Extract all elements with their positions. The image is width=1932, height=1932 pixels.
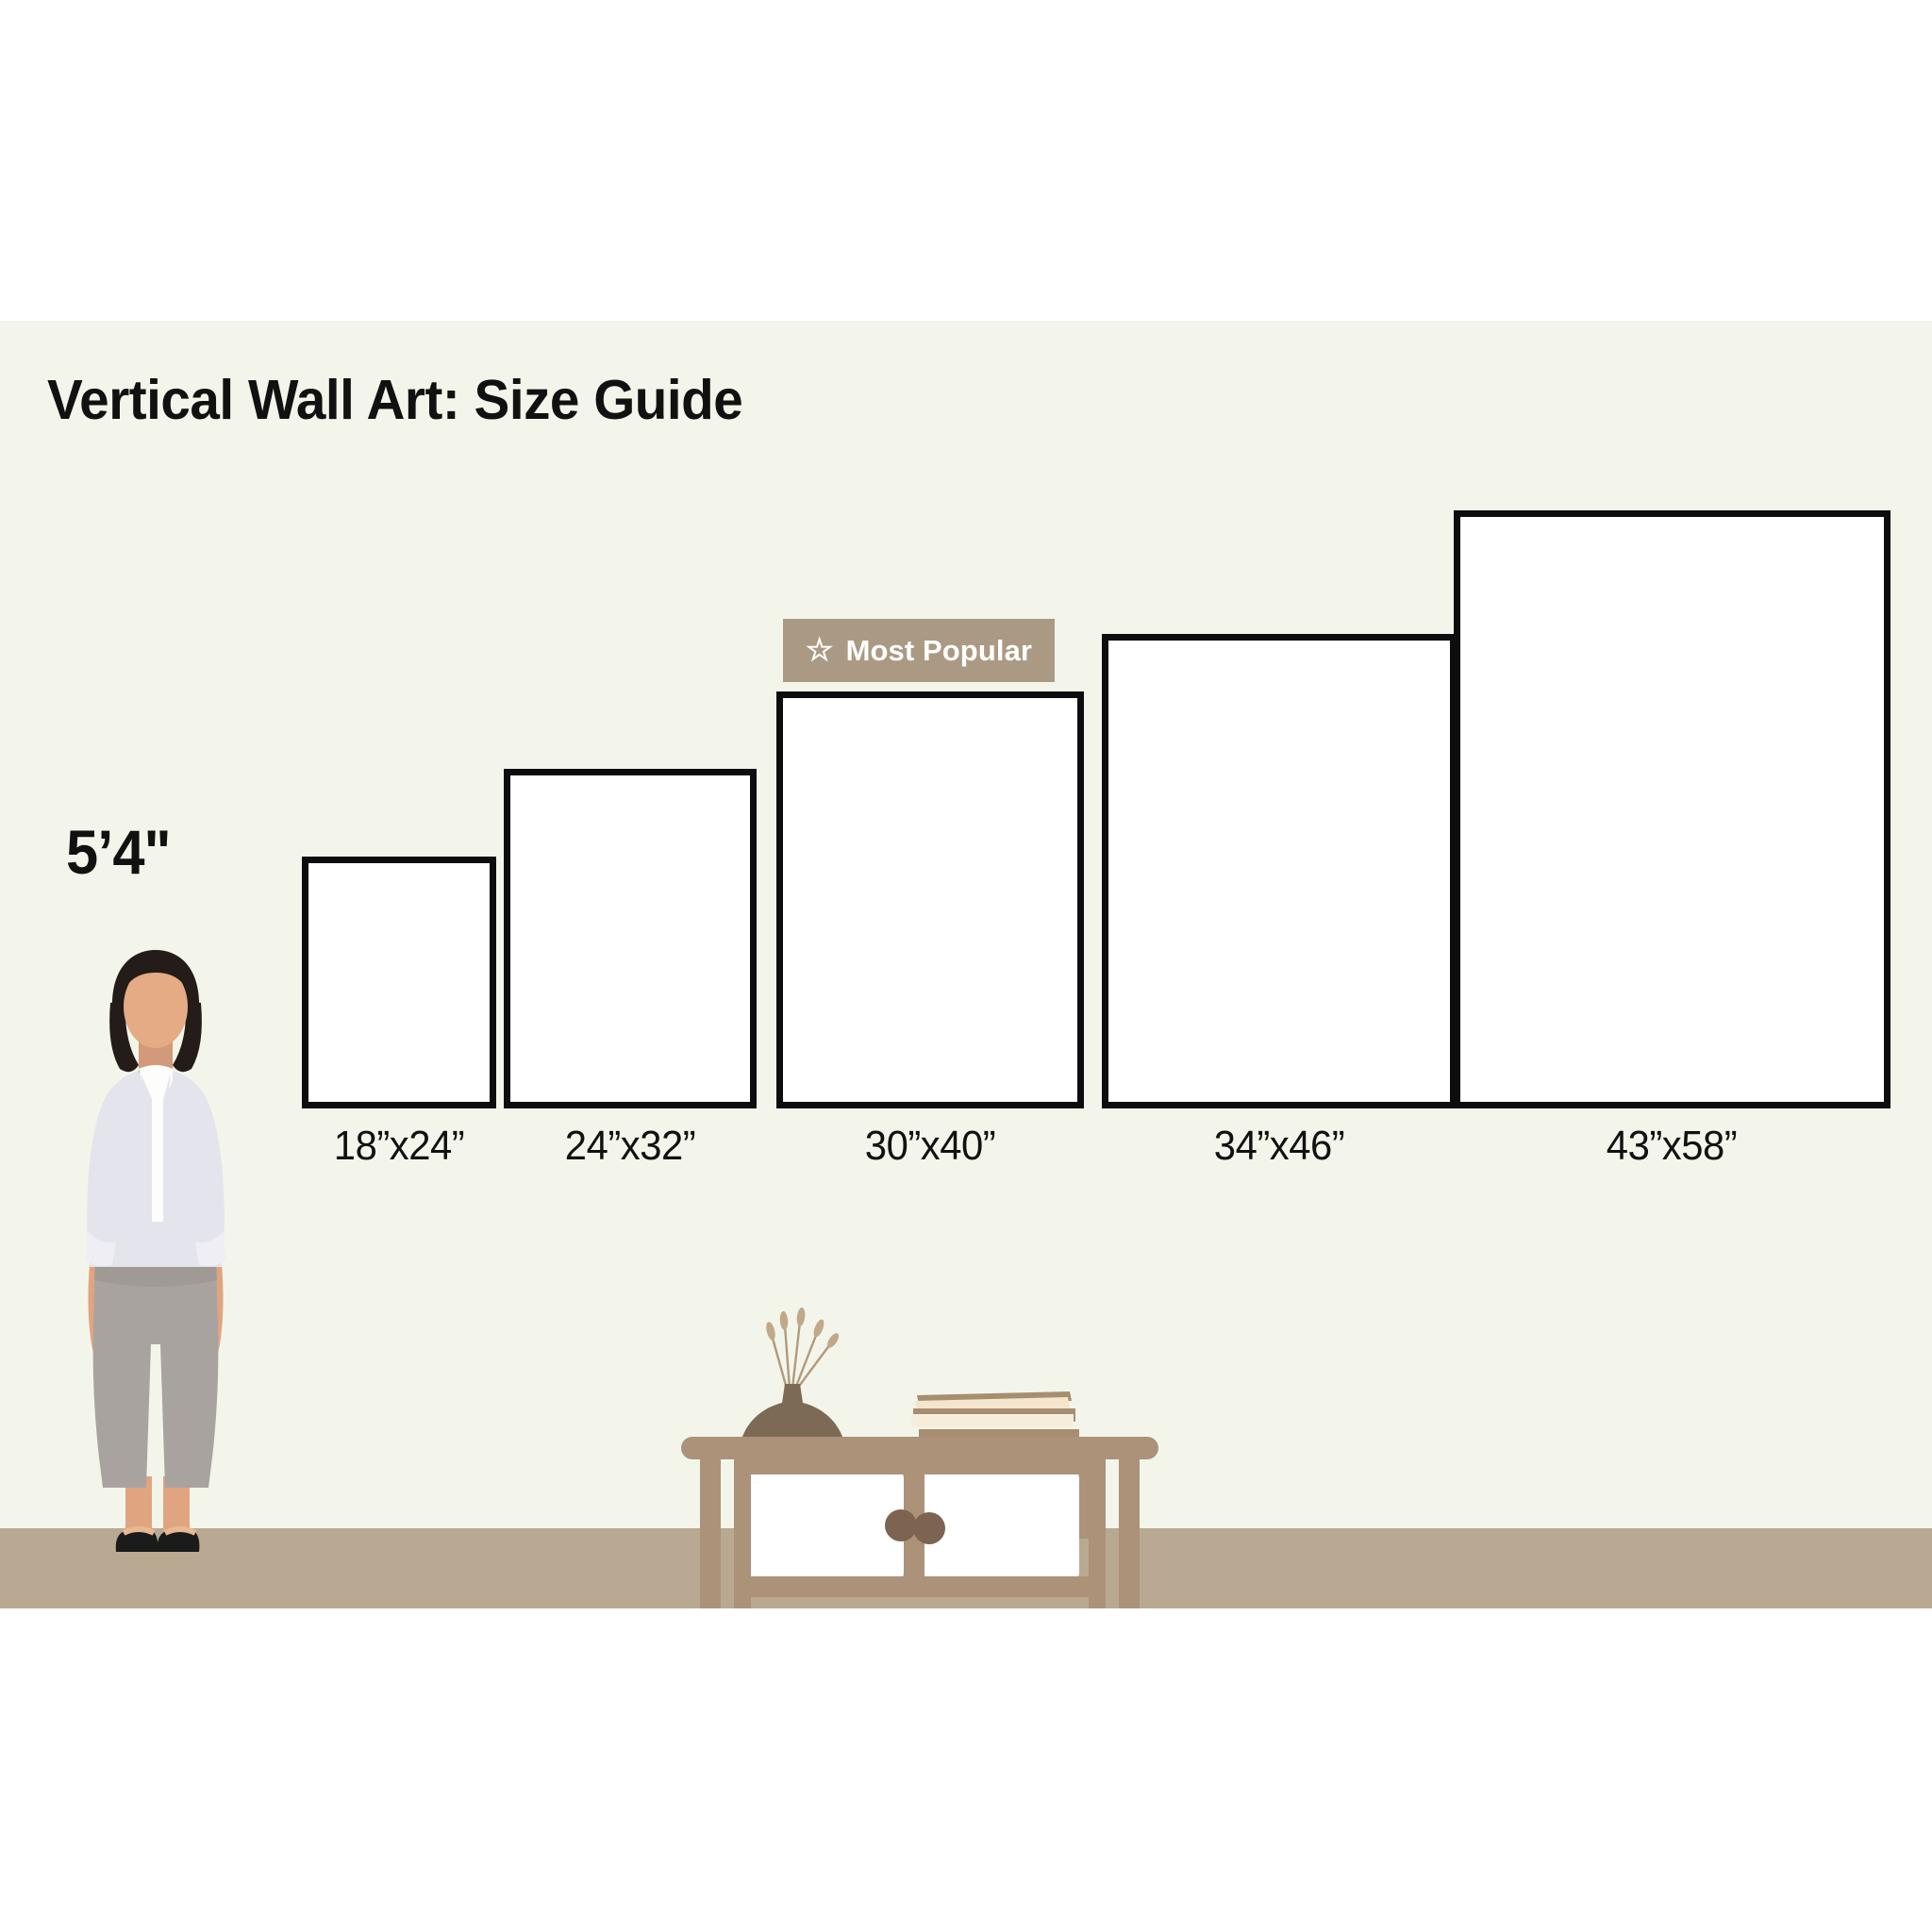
frame-label-24x32: 24”x32”: [520, 1123, 741, 1170]
frame-label-34x46: 34”x46”: [1169, 1123, 1390, 1170]
frame-label-18x24: 18”x24”: [289, 1123, 509, 1170]
size-guide-graphic: Vertical Wall Art: Size Guide 5’4": [0, 0, 1932, 1932]
frame-30x40[interactable]: [776, 691, 1084, 1108]
cabinet-door-left: [747, 1469, 904, 1582]
most-popular-badge[interactable]: ☆ Most Popular: [783, 619, 1055, 682]
table-top: [681, 1437, 1158, 1459]
frame-43x58[interactable]: [1454, 510, 1890, 1108]
frame-label-30x40: 30”x40”: [820, 1123, 1041, 1170]
stem-heads: [765, 1307, 841, 1350]
knob-right: [913, 1512, 945, 1544]
cabinet-door-right: [923, 1469, 1079, 1582]
shoe-right: [158, 1529, 200, 1552]
frame-24x32[interactable]: [504, 769, 757, 1108]
human-scale-figure: [52, 948, 259, 1557]
console-table-illustration: [679, 1259, 1160, 1608]
star-outline-icon: ☆: [806, 634, 834, 665]
book-stack: [911, 1391, 1079, 1437]
person-illustration: [52, 948, 259, 1557]
most-popular-label: Most Popular: [846, 634, 1033, 668]
frame-34x46[interactable]: [1102, 634, 1457, 1108]
frame-label-43x58: 43”x58”: [1561, 1123, 1782, 1170]
knob-left: [885, 1509, 917, 1541]
room-canvas: Vertical Wall Art: Size Guide 5’4": [0, 321, 1932, 1608]
console-table: [679, 1259, 1160, 1608]
page-title: Vertical Wall Art: Size Guide: [47, 368, 742, 432]
shoe-left: [116, 1529, 158, 1552]
frame-18x24[interactable]: [302, 857, 496, 1108]
figure-height-label: 5’4": [66, 816, 171, 888]
